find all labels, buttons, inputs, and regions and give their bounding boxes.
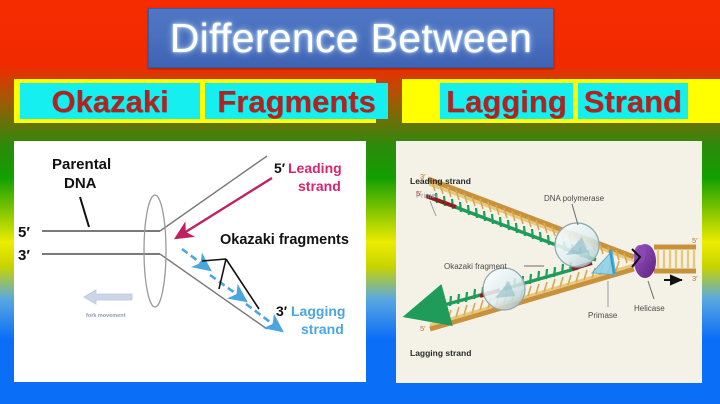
leading-template-backbone [428,179,634,257]
okazaki-fragment-label: Okazaki fragment [444,262,507,271]
lagging-strand-label-line1: Lagging [291,303,345,319]
lagging-direction-arrow [410,308,436,315]
fork-movement-label: fork movement [86,313,126,319]
okazaki-arrow-2 [210,275,246,301]
okazaki-leader-1 [202,259,226,261]
subtitle-right-word2: Strand [584,86,682,117]
parental-dna-label-line1: Parental [52,156,111,173]
parental-five-prime-label: 5′ [18,224,30,241]
subtitle-left-word1-box: Okazaki [20,83,200,119]
parental-duplex-right [654,247,696,280]
subtitle-left-word2-box: Fragments [205,83,388,119]
parental-dna-leader [80,197,89,227]
subtitle-right-word2-box: Strand [578,83,688,119]
fork-three-prime-marker: 3′ [692,274,698,283]
subtitle-left-word2: Fragments [217,86,375,117]
infographic-canvas: Difference Between Okazaki Fragments Lag… [0,0,720,404]
lagging-five-prime-marker: 5′ [420,324,426,333]
leading-strand-arrow [176,178,272,238]
template-lower-line [160,254,267,329]
okazaki-leader-3 [226,259,259,309]
template-upper-line [160,156,267,231]
leading-strand-label-line2: strand [298,178,341,194]
parental-right-rungs [658,249,694,269]
subtitle-left-word1: Okazaki [51,86,168,117]
subtitle-right-word1-box: Lagging [440,83,573,119]
okazaki-fragments-label: Okazaki fragments [220,232,349,248]
right-fork-svg: Leading strand Lagging strand Primer DNA… [396,141,702,383]
subtitle-right-word1: Lagging [446,86,567,117]
subtitle-bar-left: Okazaki Fragments [14,79,376,123]
title-text: Difference Between [170,18,532,59]
helicase-leader [648,281,654,299]
helicase-label: Helicase [634,304,665,313]
leading-five-prime-marker: 5′ [416,189,422,198]
dna-polymerase-label: DNA polymerase [544,194,605,203]
left-fork-svg: Parental DNA 5′ 3′ 5′ Leading strand Oka… [14,141,366,382]
leading-three-prime-marker: 3′ [420,172,426,181]
leading-prime-label: 5′ [274,160,286,176]
dna-polymerase-leader [572,204,578,225]
fork-movement-arrow [84,290,132,304]
lagging-prime-label: 3′ [276,303,288,319]
replication-fork-lens [144,195,166,307]
parental-dna-label-line2: DNA [64,175,97,192]
leading-strand-duplex [426,179,634,263]
fork-five-prime-marker: 5′ [692,236,698,245]
left-diagram-panel: Parental DNA 5′ 3′ 5′ Leading strand Oka… [14,141,366,382]
parental-three-prime-label: 3′ [18,247,30,264]
title-banner: Difference Between [148,8,554,68]
primase-label: Primase [588,311,618,320]
lagging-strand-label-line2: strand [301,321,344,337]
subtitle-bar-right: Lagging Strand [402,79,720,123]
leading-strand-label-line1: Leading [288,160,342,176]
right-diagram-panel: Leading strand Lagging strand Primer DNA… [396,141,702,383]
lagging-strand-label: Lagging strand [410,348,471,358]
primer-leader [430,201,436,216]
okazaki-arrow-1 [182,249,210,270]
